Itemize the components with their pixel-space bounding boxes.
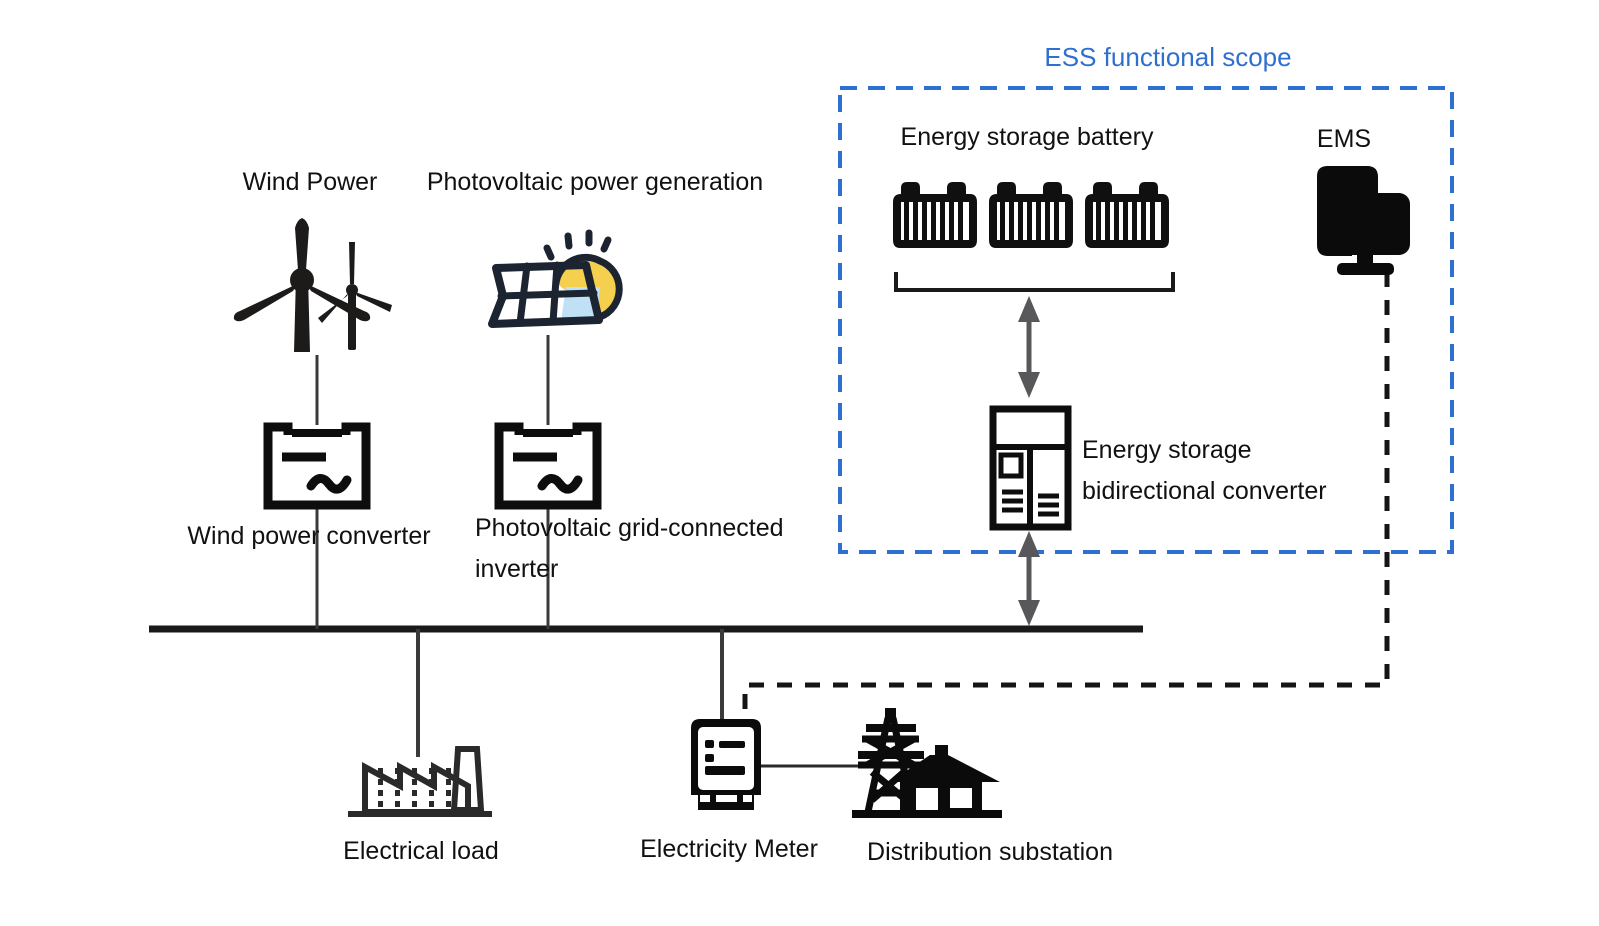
substation-tower-house-icon [852, 708, 1002, 818]
photovoltaic-power-generation-label: Photovoltaic power generation [427, 167, 763, 198]
wind-power-converter-label: Wind power converter [187, 521, 430, 552]
wind-converter-icon [268, 427, 366, 505]
battery-module-icon [989, 182, 1073, 248]
ems-computer-icon [1317, 166, 1410, 275]
energy-storage-battery-label: Energy storage battery [901, 122, 1154, 153]
ess-scope-title: ESS functional scope [1044, 42, 1291, 73]
energy-storage-bidirectional-converter-label: Energy storage bidirectional converter [1082, 430, 1327, 512]
distribution-substation-label: Distribution substation [867, 837, 1113, 868]
solar-panel-icon [492, 233, 619, 324]
battery-converter-double-arrow [1018, 296, 1040, 398]
electricity-meter-label: Electricity Meter [640, 834, 818, 865]
converter-bus-double-arrow [1018, 531, 1040, 626]
factory-icon [348, 749, 492, 814]
battery-module-icon [893, 182, 977, 248]
pv-inverter-icon [499, 427, 597, 505]
diagram-canvas: ESS functional scope Energy storage batt… [0, 0, 1599, 926]
battery-module-icon [1085, 182, 1169, 248]
wind-turbine-icon [234, 218, 392, 352]
battery-bracket [896, 272, 1173, 290]
bidirectional-converter-cabinet-icon [993, 409, 1068, 527]
ems-label: EMS [1317, 124, 1371, 155]
photovoltaic-grid-connected-inverter-label: Photovoltaic grid-connected inverter [475, 508, 784, 590]
wind-power-label: Wind Power [243, 167, 378, 198]
electricity-meter-icon [691, 719, 761, 810]
battery-module-group [893, 182, 1169, 248]
electrical-load-label: Electrical load [343, 836, 499, 867]
